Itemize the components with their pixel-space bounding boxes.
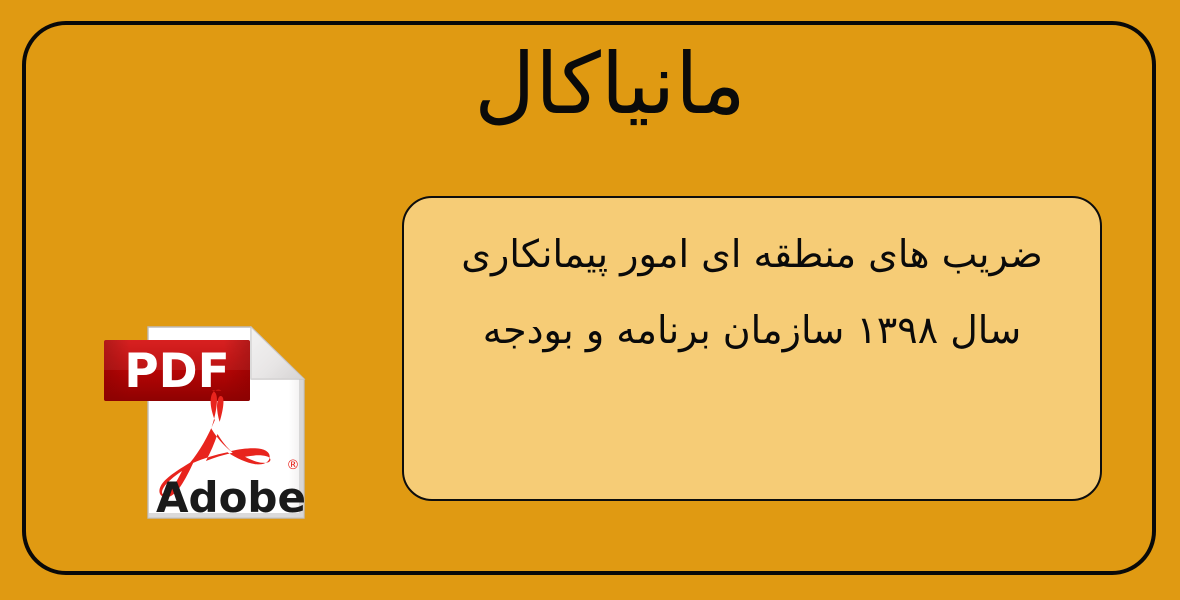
poster-canvas: مانیاکال ضریب های منطقه ای امور پیمانکار… <box>0 0 1180 600</box>
page-title: مانیاکال <box>330 18 890 150</box>
info-panel: ضریب های منطقه ای امور پیمانکاری سال ۱۳۹… <box>402 196 1102 501</box>
pdf-badge: PDF <box>104 340 250 401</box>
registered-trademark-mark: ® <box>287 458 300 473</box>
info-panel-line-1: ضریب های منطقه ای امور پیمانکاری <box>430 216 1074 292</box>
pdf-file-icon[interactable]: PDF ® Adobe <box>103 326 308 521</box>
page-title-text: مانیاکال <box>474 40 746 128</box>
adobe-wordmark-label: Adobe <box>156 473 306 521</box>
info-panel-line-2: سال ۱۳۹۸ سازمان برنامه و بودجه <box>430 292 1074 368</box>
